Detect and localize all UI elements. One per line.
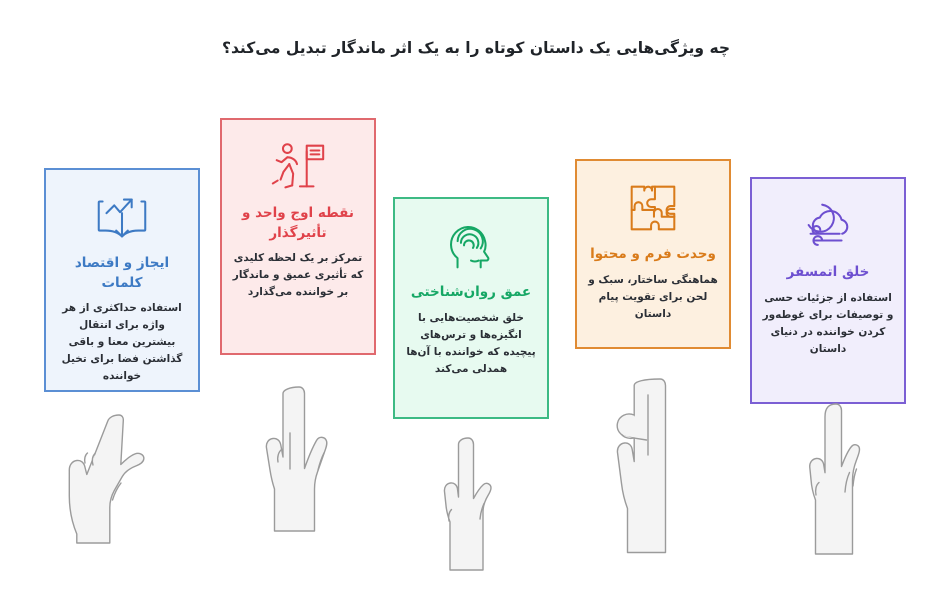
card-title: عمق روان‌شناختی: [403, 283, 539, 303]
card-description: هماهنگی ساختار، سبک و لحن برای تقویت پیا…: [577, 272, 729, 323]
card-title: نقطه اوج واحد و تأثیرگذار: [222, 204, 374, 243]
puzzle-pieces-icon: [622, 177, 684, 239]
pointing-up-hand-icon: [262, 383, 348, 562]
pointing-up-hand-icon: [800, 400, 880, 562]
page-title: چه ویژگی‌هایی یک داستان کوتاه را به یک ا…: [0, 38, 952, 60]
pointing-up-hand-icon: [604, 375, 704, 559]
card-description: تمرکز بر یک لحظه کلیدی که تأثیری عمیق و …: [222, 250, 374, 301]
card-description: استفاده از جزئیات حسی و توصیفات برای غوط…: [752, 290, 904, 358]
card-title: ایجاز و اقتصاد کلمات: [46, 254, 198, 293]
pointing-up-hand-icon: [56, 408, 168, 557]
card-khalgh-atmosfer[interactable]: خلق اتمسفر استفاده از جزئیات حسی و توصیف…: [750, 177, 906, 404]
moon-cloud-wind-icon: [797, 195, 859, 257]
head-profile-spiral-mind-icon: [440, 215, 502, 277]
card-description: خلق شخصیت‌هایی با انگیزه‌ها و ترس‌های پی…: [395, 310, 547, 378]
person-reaching-flag-icon: [267, 136, 329, 198]
card-omgh-ravanshenakhti[interactable]: عمق روان‌شناختی خلق شخصیت‌هایی با انگیزه…: [393, 197, 549, 419]
card-description: استفاده حداکثری از هر واژه برای انتقال ب…: [46, 300, 198, 385]
pointing-up-hand-icon: [434, 434, 514, 584]
open-book-growth-arrow-icon: [91, 186, 153, 248]
card-vahdat-form-mohtava[interactable]: وحدت فرم و محتوا هماهنگی ساختار، سبک و ل…: [575, 159, 731, 349]
card-title: خلق اتمسفر: [779, 263, 878, 283]
card-ijaz-eqtesad-kalamat[interactable]: ایجاز و اقتصاد کلمات استفاده حداکثری از …: [44, 168, 200, 392]
card-title: وحدت فرم و محتوا: [582, 245, 724, 265]
card-noghte-owj-vahed[interactable]: نقطه اوج واحد و تأثیرگذار تمرکز بر یک لح…: [220, 118, 376, 355]
